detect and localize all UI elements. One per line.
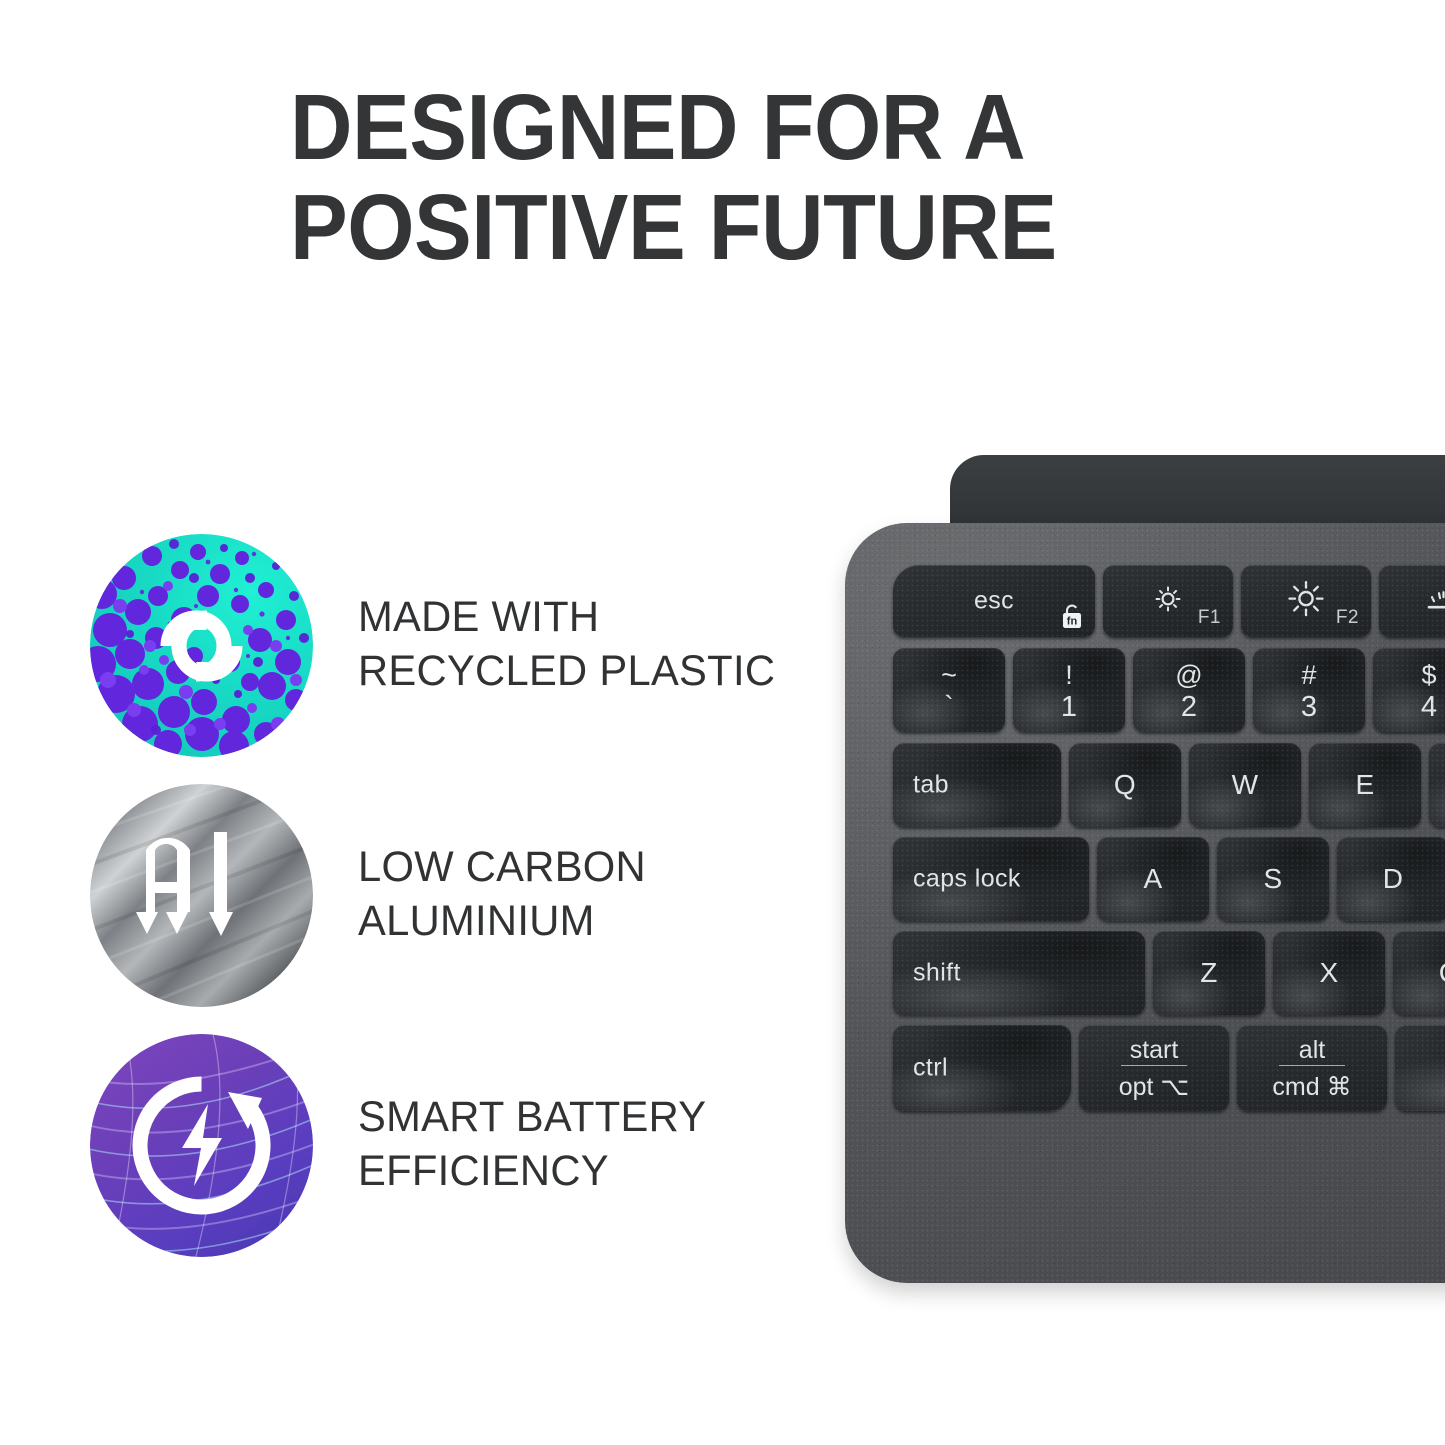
keyboard-product-image: esc fn [845, 455, 1445, 1305]
benefit-item-recycled-plastic: MADE WITH RECYCLED PLASTIC [90, 520, 830, 770]
key-c-label: C [1393, 959, 1445, 987]
key-tab-label: tab [913, 773, 949, 798]
key-tilde[interactable]: ~ ` [893, 648, 1005, 732]
key-s-label: S [1217, 865, 1329, 893]
key-z[interactable]: Z [1153, 931, 1265, 1015]
key-f2-fkey-label: F2 [1336, 607, 1359, 629]
key-e[interactable]: E [1309, 743, 1421, 827]
key-spacebar[interactable] [1395, 1025, 1445, 1111]
key-f3[interactable]: F3 [1379, 565, 1445, 637]
key-tab[interactable]: tab [893, 743, 1061, 827]
key-3[interactable]: # 3 [1253, 648, 1365, 732]
benefit-item-smart-battery-efficiency: SMART BATTERY EFFICIENCY [90, 1020, 830, 1270]
page-title: DESIGNED FOR A POSITIVE FUTURE [290, 78, 1220, 277]
key-f1[interactable]: F1 [1103, 565, 1233, 637]
key-d[interactable]: D [1337, 837, 1445, 921]
key-cmd-label: cmd ⌘ [1237, 1075, 1387, 1100]
key-ctrl[interactable]: ctrl [893, 1025, 1071, 1111]
key-caps-lock-label: caps lock [913, 867, 1021, 892]
badge-low-carbon-aluminium [90, 784, 313, 1007]
key-3-number: 3 [1253, 693, 1365, 722]
key-2[interactable]: @ 2 [1133, 648, 1245, 732]
key-4-number: 4 [1373, 693, 1445, 722]
key-a-label: A [1097, 865, 1209, 893]
key-1[interactable]: ! 1 [1013, 648, 1125, 732]
key-1-number: 1 [1013, 693, 1125, 722]
key-w[interactable]: W [1189, 743, 1301, 827]
key-ctrl-label: ctrl [913, 1056, 948, 1081]
key-alt-cmd-divider [1279, 1065, 1345, 1066]
key-2-number: 2 [1133, 693, 1245, 722]
key-3-symbol: # [1253, 662, 1365, 689]
key-caps-lock[interactable]: caps lock [893, 837, 1089, 921]
key-tilde-number: ` [893, 693, 1005, 722]
key-e-label: E [1309, 771, 1421, 799]
key-1-symbol: ! [1013, 662, 1125, 689]
key-s[interactable]: S [1217, 837, 1329, 921]
key-x-label: X [1273, 959, 1385, 987]
key-alt-label: alt [1237, 1038, 1387, 1063]
key-opt-label: opt ⌥ [1079, 1075, 1229, 1100]
key-x[interactable]: X [1273, 931, 1385, 1015]
benefit-label-recycled-plastic: MADE WITH RECYCLED PLASTIC [358, 591, 775, 699]
key-w-label: W [1189, 771, 1301, 799]
key-c[interactable]: C [1393, 931, 1445, 1015]
key-start-label: start [1079, 1038, 1229, 1063]
key-start-opt[interactable]: start opt ⌥ [1079, 1025, 1229, 1111]
key-z-label: Z [1153, 959, 1265, 987]
key-a[interactable]: A [1097, 837, 1209, 921]
key-shift[interactable]: shift [893, 931, 1145, 1015]
fn-lock-icon: fn [1060, 604, 1084, 630]
keyboard-top-plate: esc fn [845, 523, 1445, 1283]
key-d-label: D [1337, 865, 1445, 893]
key-2-symbol: @ [1133, 662, 1245, 689]
key-f1-fkey-label: F1 [1198, 607, 1221, 629]
benefit-label-low-carbon-aluminium: LOW CARBON ALUMINIUM [358, 841, 646, 949]
key-4-symbol: $ [1373, 662, 1445, 689]
key-q-label: Q [1069, 771, 1181, 799]
key-start-opt-divider [1121, 1065, 1187, 1066]
key-f2[interactable]: F2 [1241, 565, 1371, 637]
key-alt-cmd[interactable]: alt cmd ⌘ [1237, 1025, 1387, 1111]
key-4[interactable]: $ 4 [1373, 648, 1445, 732]
key-shift-label: shift [913, 961, 961, 986]
benefit-list: MADE WITH RECYCLED PLASTIC [90, 520, 830, 1270]
benefit-item-low-carbon-aluminium: LOW CARBON ALUMINIUM [90, 770, 830, 1020]
key-q[interactable]: Q [1069, 743, 1181, 827]
key-esc[interactable]: esc fn [893, 565, 1095, 637]
key-tilde-symbol: ~ [893, 662, 1005, 689]
badge-recycled-plastic [90, 534, 313, 757]
benefit-label-smart-battery-efficiency: SMART BATTERY EFFICIENCY [358, 1091, 706, 1199]
svg-text:fn: fn [1067, 616, 1078, 628]
key-r[interactable] [1429, 743, 1445, 827]
backlight-icon [1379, 584, 1445, 614]
badge-smart-battery-efficiency [90, 1034, 313, 1257]
